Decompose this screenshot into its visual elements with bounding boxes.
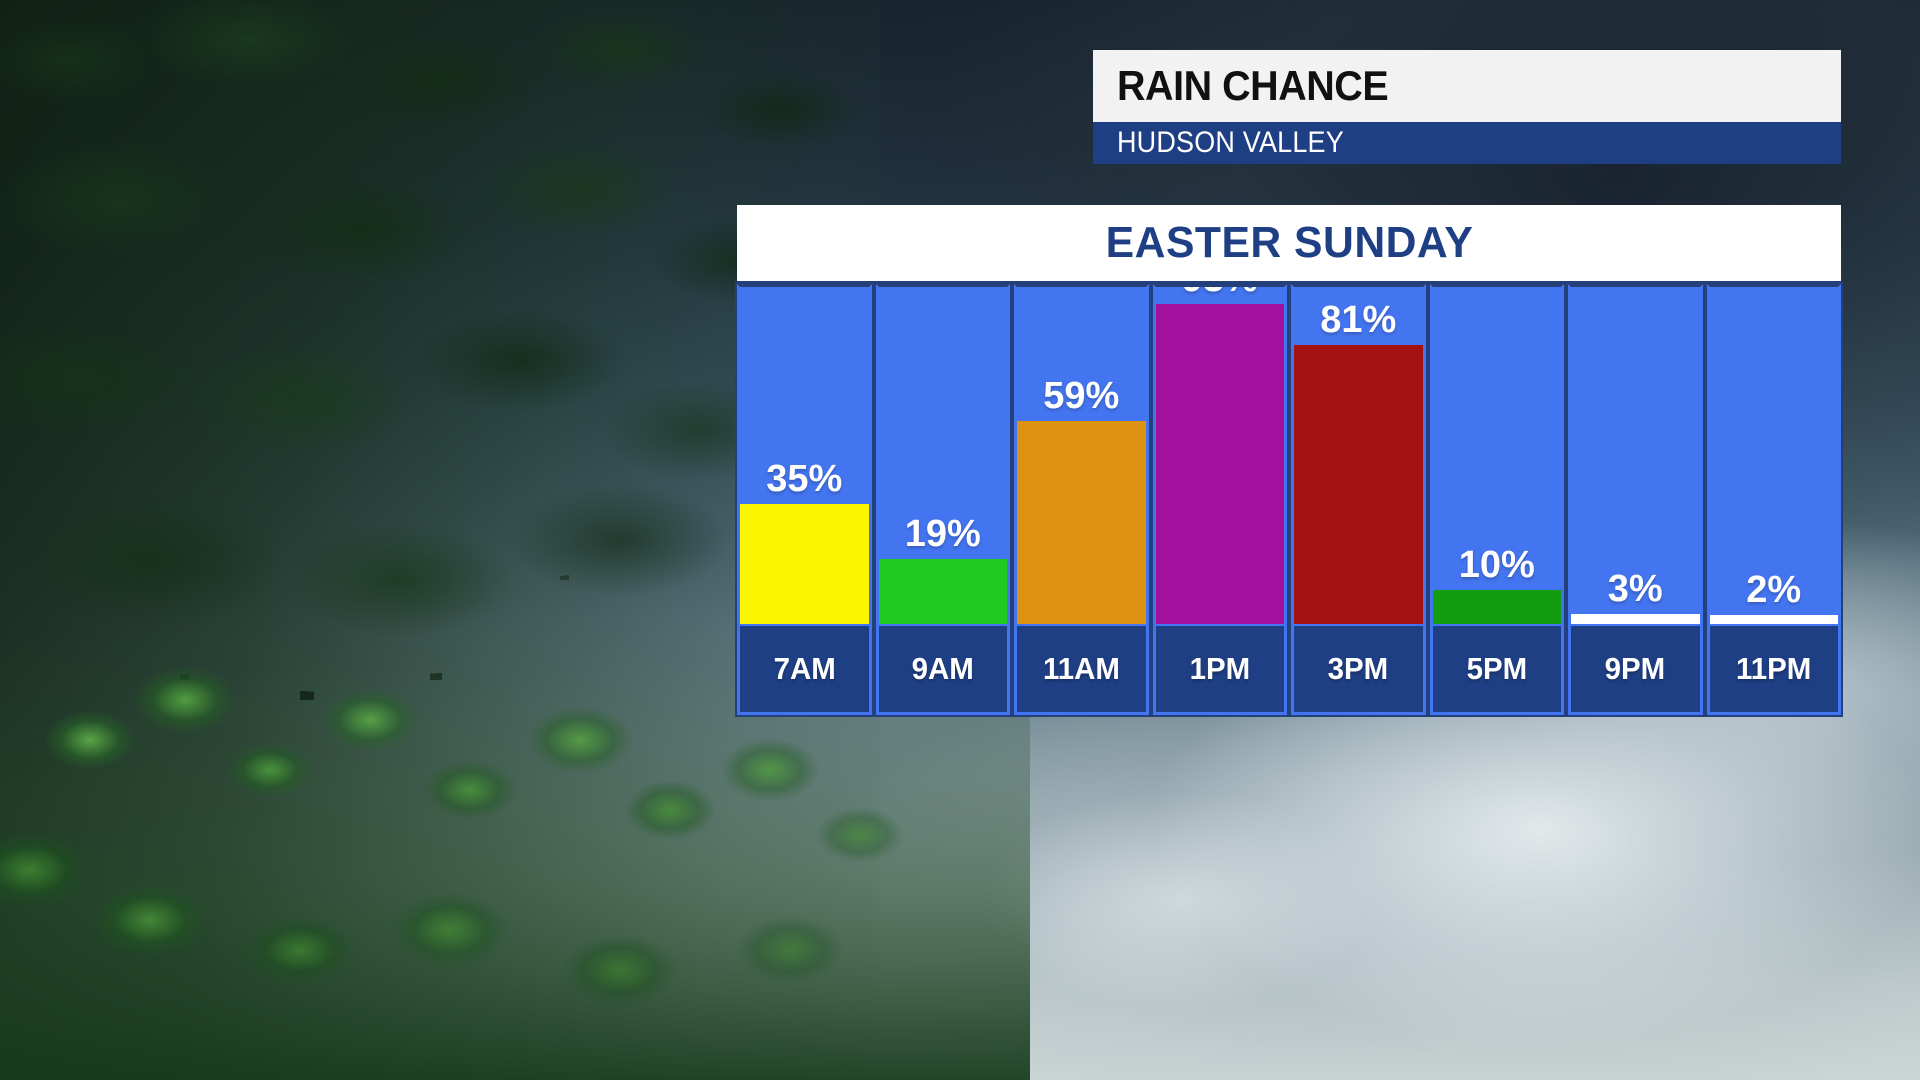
chart-title: EASTER SUNDAY <box>1105 218 1473 268</box>
bar-chart-plot-area: 35%7AM19%9AM59%11AM93%1PM81%3PM10%5PM3%9… <box>737 281 1841 715</box>
rain-chance-chart-panel: EASTER SUNDAY 35%7AM19%9AM59%11AM93%1PM8… <box>737 205 1841 715</box>
bar-time-footer: 7AM <box>740 624 869 712</box>
bar-column[interactable]: 10%5PM <box>1430 284 1565 715</box>
bar-plot: 93% <box>1156 287 1285 624</box>
bar-column[interactable]: 2%11PM <box>1707 284 1842 715</box>
bar-column[interactable]: 3%9PM <box>1568 284 1703 715</box>
bar-fill <box>1710 615 1839 624</box>
bar-fill <box>1017 421 1146 624</box>
bar-fill <box>1156 304 1285 624</box>
bar-plot: 81% <box>1294 287 1423 624</box>
bar-column[interactable]: 19%9AM <box>876 284 1011 715</box>
bar-time-label: 5PM <box>1466 651 1527 687</box>
bar-time-footer: 11PM <box>1710 624 1839 712</box>
bar-value-label: 19% <box>879 515 1008 553</box>
bar-column[interactable]: 81%3PM <box>1291 284 1426 715</box>
bar-time-footer: 9PM <box>1571 624 1700 712</box>
bar-column[interactable]: 35%7AM <box>737 284 872 715</box>
title-band: RAIN CHANCE <box>1093 50 1841 122</box>
bar-column[interactable]: 93%1PM <box>1153 284 1288 715</box>
bar-value-label: 59% <box>1017 377 1146 415</box>
locality-label: HUDSON VALLEY <box>1117 126 1344 160</box>
bar-value-label: 93% <box>1156 287 1285 298</box>
bar-time-footer: 1PM <box>1156 624 1285 712</box>
bar-plot: 2% <box>1710 287 1839 624</box>
bar-time-label: 7AM <box>773 651 835 687</box>
bar-fill <box>740 504 869 624</box>
bar-fill <box>879 559 1008 624</box>
bar-plot: 59% <box>1017 287 1146 624</box>
bar-plot: 35% <box>740 287 869 624</box>
locality-band: HUDSON VALLEY <box>1093 122 1841 164</box>
bar-time-label: 1PM <box>1189 651 1250 687</box>
bar-time-footer: 11AM <box>1017 624 1146 712</box>
bar-time-footer: 3PM <box>1294 624 1423 712</box>
bar-fill <box>1571 614 1700 624</box>
header-block: RAIN CHANCE HUDSON VALLEY <box>1093 50 1841 164</box>
bar-plot: 19% <box>879 287 1008 624</box>
bar-time-footer: 5PM <box>1433 624 1562 712</box>
bar-fill <box>1294 345 1423 624</box>
bar-time-label: 9AM <box>912 651 974 687</box>
chart-title-band: EASTER SUNDAY <box>737 205 1841 281</box>
bar-plot: 10% <box>1433 287 1562 624</box>
bar-fill <box>1433 590 1562 624</box>
bar-time-label: 11AM <box>1043 651 1120 687</box>
bar-time-label: 3PM <box>1328 651 1389 687</box>
bar-time-label: 11PM <box>1736 651 1811 687</box>
bar-value-label: 35% <box>740 460 869 498</box>
bar-plot: 3% <box>1571 287 1700 624</box>
bar-value-label: 10% <box>1433 546 1562 584</box>
bar-value-label: 3% <box>1571 570 1700 608</box>
bar-value-label: 81% <box>1294 301 1423 339</box>
bar-column[interactable]: 59%11AM <box>1014 284 1149 715</box>
bar-value-label: 2% <box>1710 571 1839 609</box>
page-title: RAIN CHANCE <box>1117 62 1388 110</box>
bar-time-footer: 9AM <box>879 624 1008 712</box>
bar-time-label: 9PM <box>1605 651 1666 687</box>
